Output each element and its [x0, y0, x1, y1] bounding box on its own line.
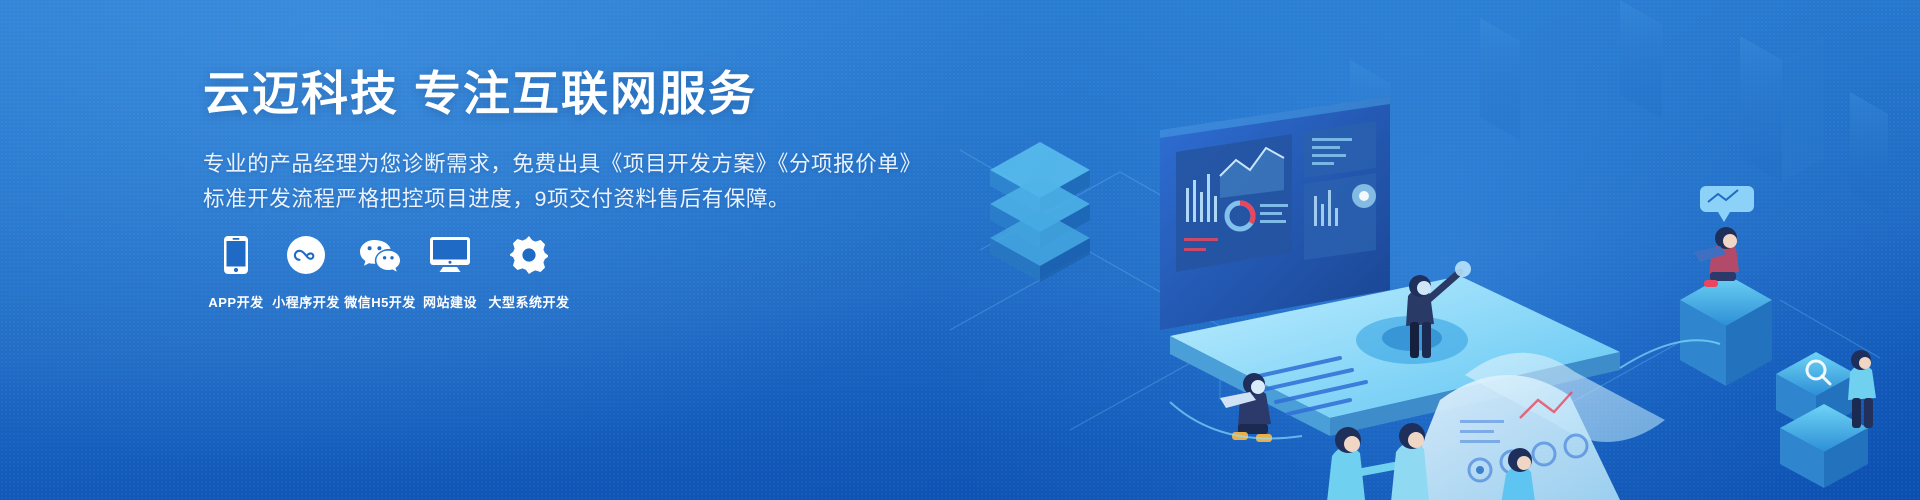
- mini-program-icon: [287, 232, 325, 278]
- subtitle-line-1: 专业的产品经理为您诊断需求，免费出具《项目开发方案》《分项报价单》: [203, 147, 923, 182]
- monitor-icon: [430, 232, 470, 278]
- service-label: 网站建设: [423, 292, 477, 311]
- subtitle-line-2: 标准开发流程严格把控项目进度，9项交付资料售后有保障。: [203, 182, 923, 217]
- service-label: 大型系统开发: [488, 292, 569, 311]
- service-item-mini-program[interactable]: 小程序开发: [269, 232, 343, 311]
- mobile-phone-icon: [224, 232, 248, 278]
- service-item-website[interactable]: 网站建设: [417, 232, 483, 311]
- service-item-wechat[interactable]: 微信H5开发: [343, 232, 417, 311]
- gear-icon: [510, 232, 548, 278]
- hero-banner: 云迈科技 专注互联网服务 专业的产品经理为您诊断需求，免费出具《项目开发方案》《…: [0, 0, 1920, 500]
- service-label: APP开发: [208, 292, 263, 311]
- service-label: 微信H5开发: [344, 292, 416, 311]
- service-item-app[interactable]: APP开发: [203, 232, 269, 311]
- illustration: [920, 0, 1920, 500]
- service-list: APP开发 小程序开发 微信: [203, 232, 575, 311]
- wechat-icon: [358, 232, 402, 278]
- service-label: 小程序开发: [272, 292, 340, 311]
- page-title: 云迈科技 专注互联网服务: [203, 66, 923, 121]
- hero-copy: 云迈科技 专注互联网服务 专业的产品经理为您诊断需求，免费出具《项目开发方案》《…: [203, 66, 923, 217]
- service-item-large-system[interactable]: 大型系统开发: [483, 232, 575, 311]
- hero-subtitle: 专业的产品经理为您诊断需求，免费出具《项目开发方案》《分项报价单》 标准开发流程…: [203, 147, 923, 217]
